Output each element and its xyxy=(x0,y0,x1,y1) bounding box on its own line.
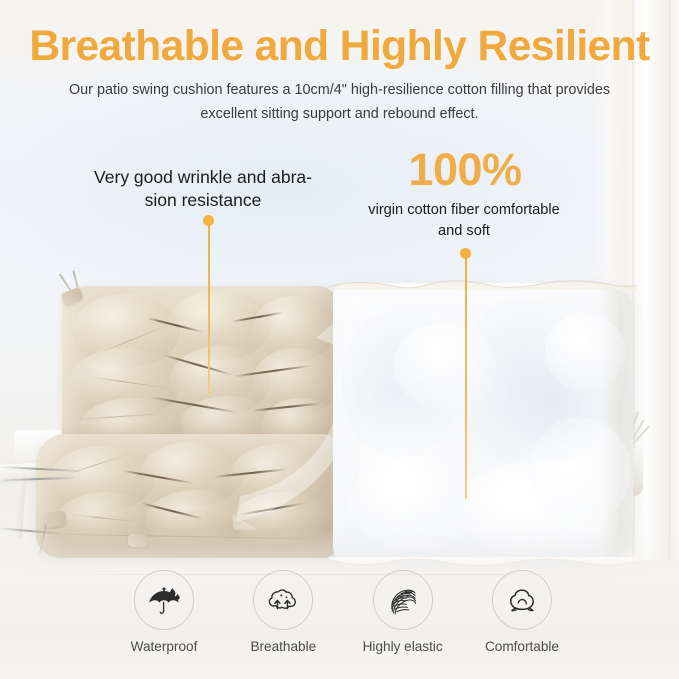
annotation-right-line2: and soft xyxy=(330,221,598,242)
cotton-filling-photo xyxy=(333,283,633,563)
feature-icon-circle xyxy=(134,570,194,630)
annotation-left-line1: Very good wrinkle and abra- xyxy=(68,166,338,189)
umbrella-icon xyxy=(146,582,182,618)
feature-waterproof[interactable]: Waterproof xyxy=(108,570,220,654)
breathable-icon xyxy=(265,582,301,618)
page-title: Breathable and Highly Resilient xyxy=(3,22,675,70)
callout-line-right xyxy=(465,257,467,499)
window-mullion-outer xyxy=(668,0,671,560)
annotation-right-headline: 100% xyxy=(340,146,590,194)
feature-label: Breathable xyxy=(227,639,339,654)
feature-comfortable[interactable]: Comfortable xyxy=(466,570,578,654)
feature-icon-circle xyxy=(373,570,433,630)
annotation-left-line2: sion resistance xyxy=(68,189,338,212)
feature-breathable[interactable]: Breathable xyxy=(227,570,339,654)
callout-line-left xyxy=(208,224,210,394)
cushion-backrest xyxy=(62,286,338,450)
feature-badges: Waterproof Breathable xyxy=(108,570,578,666)
feature-label: Comfortable xyxy=(466,639,578,654)
pillow-cloud-icon xyxy=(503,581,541,619)
page-subtitle: Our patio swing cushion features a 10cm/… xyxy=(64,78,615,126)
feature-label: Waterproof xyxy=(108,639,220,654)
beige-cushion-photo xyxy=(36,286,338,558)
cushion-tie-left xyxy=(43,511,67,529)
cotton-filling-body xyxy=(333,283,633,563)
annotation-right-line1: virgin cotton fiber comfortable xyxy=(330,200,598,221)
product-infographic: Breathable and Highly Resilient Our pati… xyxy=(0,0,679,679)
feature-icon-circle xyxy=(253,570,313,630)
feature-highly-elastic[interactable]: Highly elastic xyxy=(347,570,459,654)
annotation-left: Very good wrinkle and abra- sion resista… xyxy=(68,166,338,212)
spring-coil-icon xyxy=(384,581,422,619)
annotation-right: virgin cotton fiber comfortable and soft xyxy=(330,200,598,242)
feature-icon-circle xyxy=(492,570,552,630)
feature-label: Highly elastic xyxy=(347,639,459,654)
